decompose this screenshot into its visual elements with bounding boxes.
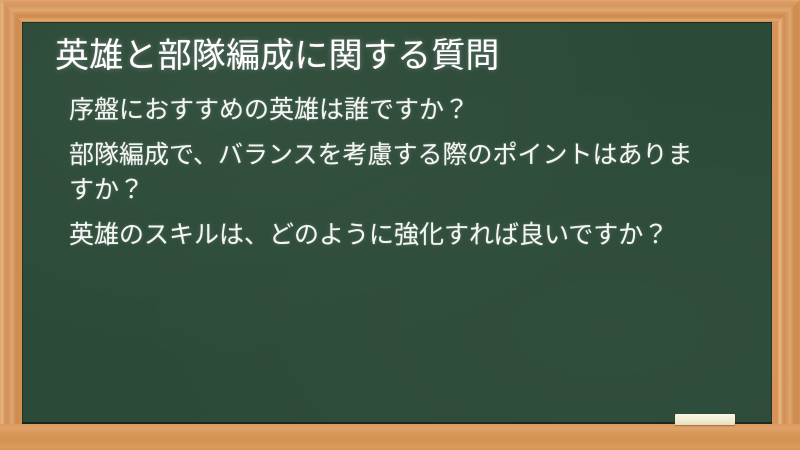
frame-rail-right	[778, 0, 800, 450]
blackboard-content: 英雄と部隊編成に関する質問 序盤におすすめの英雄は誰ですか？ 部隊編成で、バラン…	[22, 22, 772, 252]
frame-rail-top	[0, 0, 800, 22]
frame-chalk-ledge	[0, 424, 800, 450]
list-item: 部隊編成で、バランスを考慮する際のポイントはありますか？	[69, 137, 710, 208]
chalk-stick-icon	[675, 414, 735, 425]
list-item: 英雄のスキルは、どのように強化すれば良いですか？	[69, 217, 710, 253]
question-list: 序盤におすすめの英雄は誰ですか？ 部隊編成で、バランスを考慮する際のポイントはあ…	[55, 92, 744, 252]
list-item: 序盤におすすめの英雄は誰ですか？	[69, 92, 710, 128]
page-title: 英雄と部隊編成に関する質問	[55, 34, 744, 78]
frame-rail-left	[0, 0, 22, 450]
blackboard-slide: 英雄と部隊編成に関する質問 序盤におすすめの英雄は誰ですか？ 部隊編成で、バラン…	[0, 0, 800, 450]
blackboard-surface: 英雄と部隊編成に関する質問 序盤におすすめの英雄は誰ですか？ 部隊編成で、バラン…	[22, 22, 772, 424]
